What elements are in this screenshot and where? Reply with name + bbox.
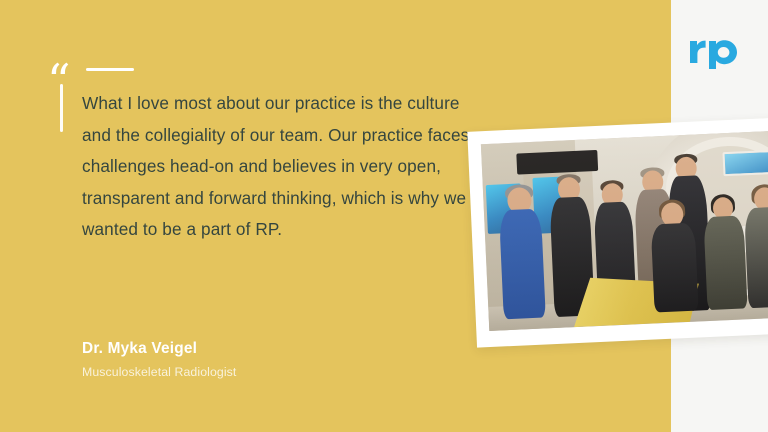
attribution-role: Musculoskeletal Radiologist [82, 363, 236, 381]
scene-wall-monitor [516, 150, 598, 174]
photo-person [647, 202, 702, 313]
attribution-name: Dr. Myka Veigel [82, 339, 236, 359]
rp-logo[interactable] [682, 30, 744, 70]
ornament-horizontal-rule [86, 68, 134, 71]
quote-text: What I love most about our practice is t… [82, 88, 474, 246]
quote-mark-icon: “ [47, 58, 70, 104]
attribution: Dr. Myka Veigel Musculoskeletal Radiolog… [82, 339, 236, 381]
ornament-vertical-rule [60, 84, 63, 132]
team-photo [481, 130, 768, 331]
photo-person [700, 196, 749, 310]
mri-control-screen [722, 149, 768, 176]
photo-person [492, 186, 551, 319]
testimonial-slide: “ What I love most about our practice is… [0, 0, 768, 432]
photo-scene [481, 130, 768, 331]
photo-card [467, 116, 768, 347]
